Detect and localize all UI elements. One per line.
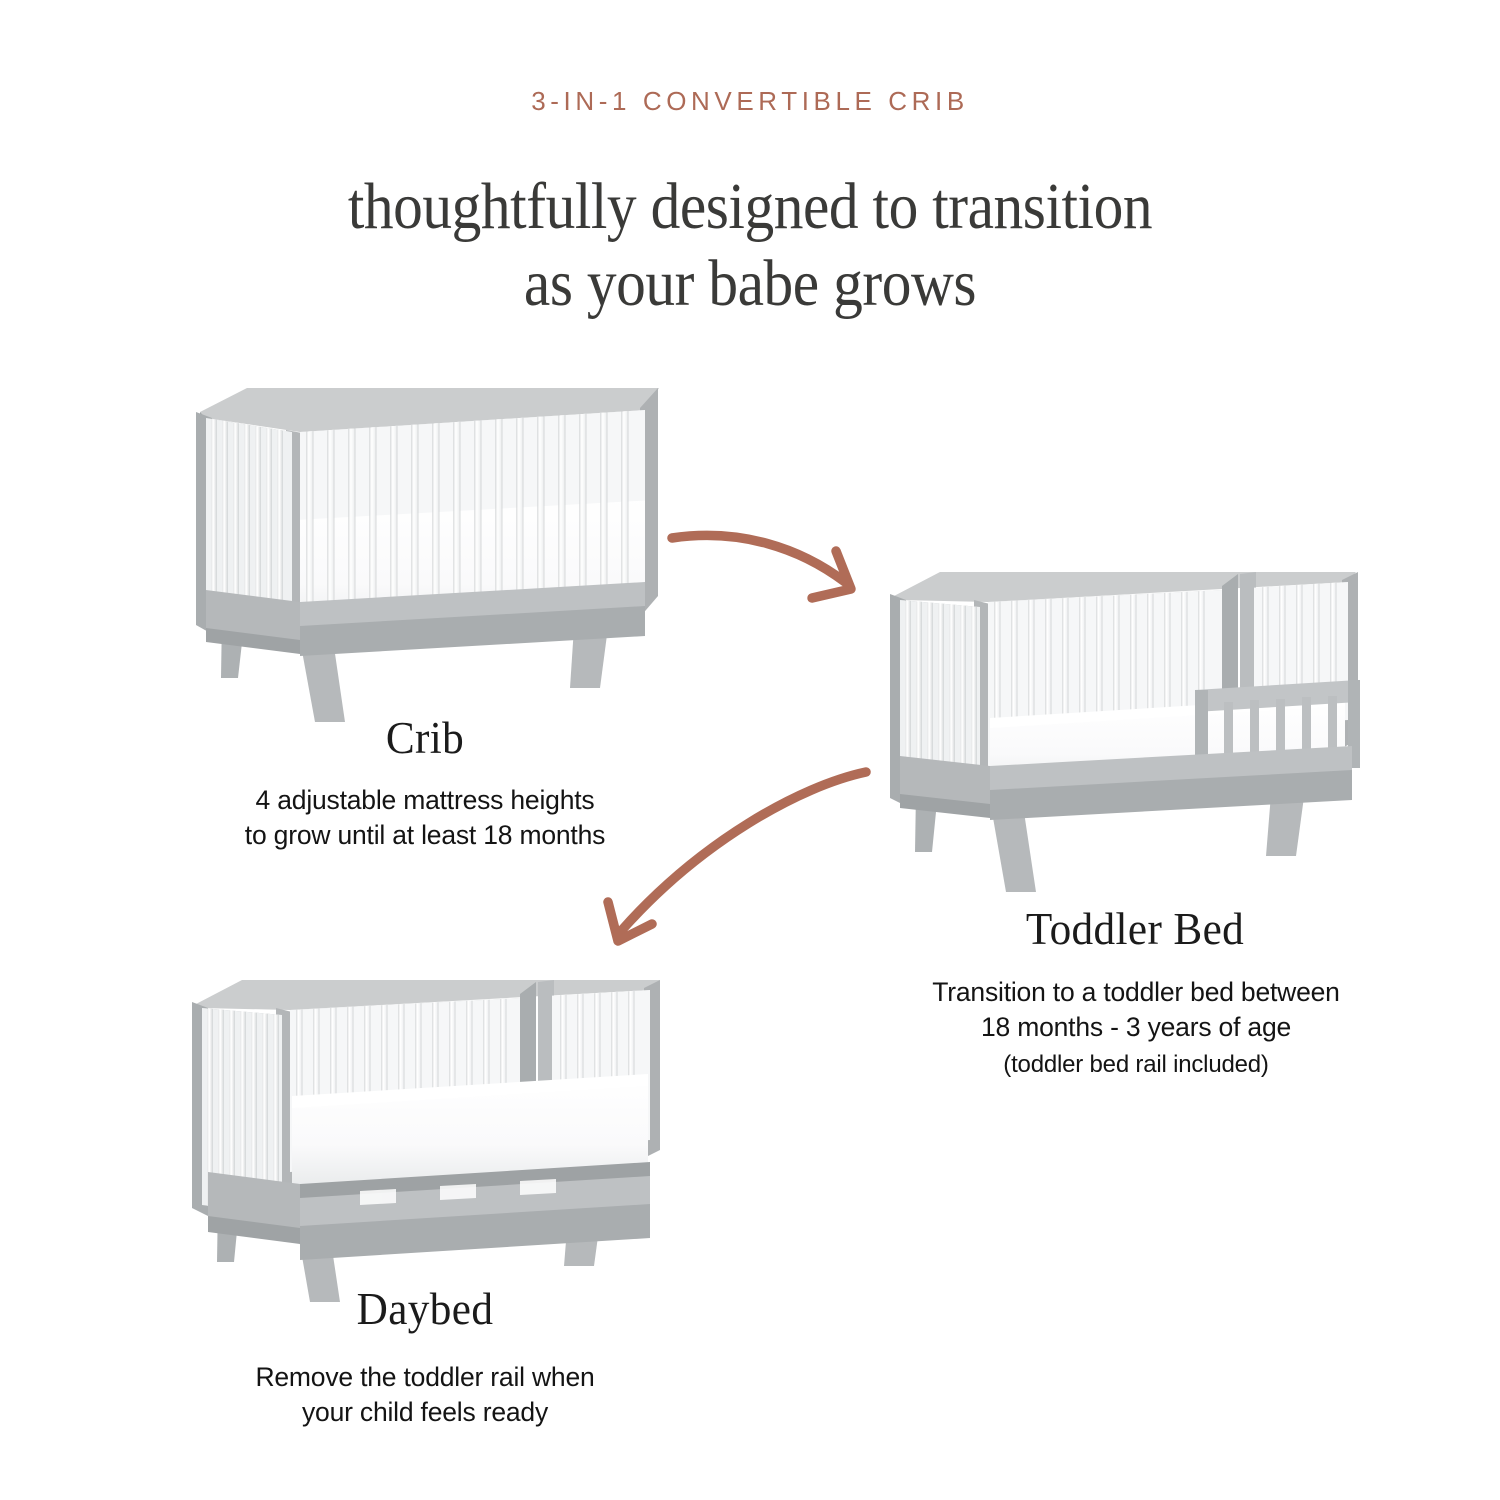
infographic-canvas: 3-IN-1 CONVERTIBLE CRIB thoughtfully des… xyxy=(0,0,1500,1500)
daybed-description: Remove the toddler rail when your child … xyxy=(150,1360,700,1430)
daybed-description-line-2: your child feels ready xyxy=(302,1397,548,1427)
crib-description-line-2: to grow until at least 18 months xyxy=(245,820,605,850)
crib-title: Crib xyxy=(161,712,689,764)
toddler-bed-title: Toddler Bed xyxy=(871,903,1399,955)
toddler-bed-description-line-2: 18 months - 3 years of age xyxy=(981,1012,1291,1042)
daybed-illustration xyxy=(192,971,660,1302)
toddler-bed-description-line-1: Transition to a toddler bed between xyxy=(932,977,1339,1007)
crib-description-line-1: 4 adjustable mattress heights xyxy=(256,785,595,815)
toddler-bed-description: Transition to a toddler bed between 18 m… xyxy=(855,975,1417,1081)
crib-illustration xyxy=(196,380,659,722)
arrow-crib-to-toddler-bed xyxy=(672,535,851,598)
crib-description: 4 adjustable mattress heights to grow un… xyxy=(150,783,700,853)
toddler-bed-note: (toddler bed rail included) xyxy=(855,1049,1417,1081)
daybed-description-line-1: Remove the toddler rail when xyxy=(255,1362,594,1392)
daybed-title: Daybed xyxy=(161,1283,689,1335)
toddler-bed-illustration xyxy=(890,563,1360,892)
